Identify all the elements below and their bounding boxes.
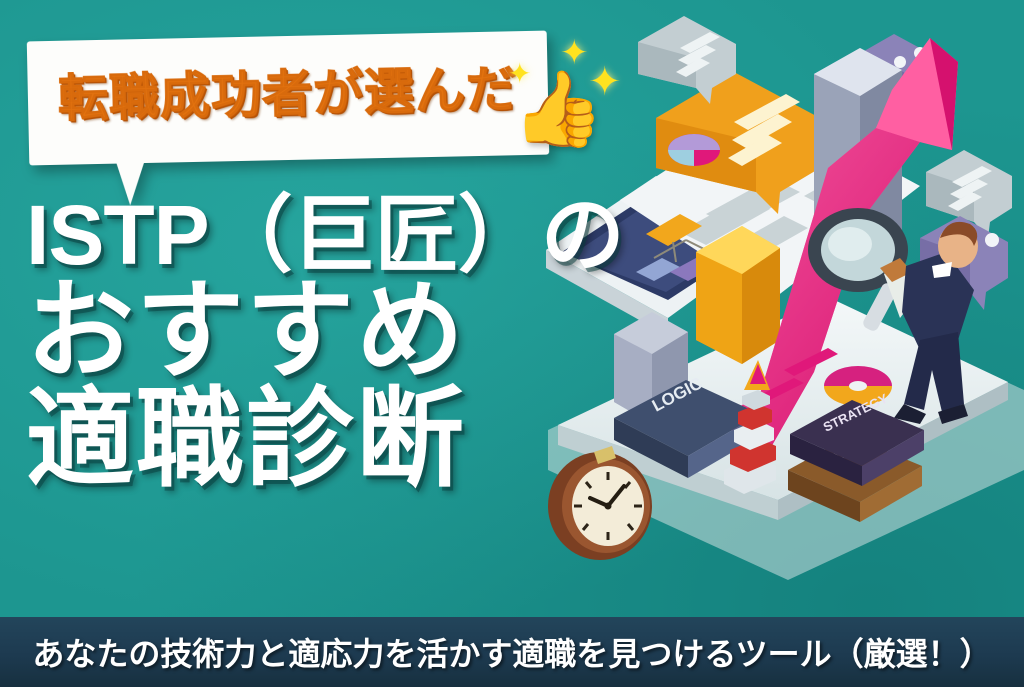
headline-block: ISTP（巨匠）の おすすめ 適職診断 bbox=[26, 196, 586, 491]
callout-bubble-text: 転職成功者が選んだ bbox=[57, 49, 517, 131]
bottom-banner: あなたの技術力と適応力を活かす適職を見つけるツール（厳選！） bbox=[0, 617, 1024, 687]
headline-line-2: おすすめ bbox=[26, 280, 586, 383]
poster-root: LOGIC MARKET STRATEGY bbox=[0, 0, 1024, 687]
headline-line-3: 適職診断 bbox=[26, 388, 586, 491]
headline-line-1-text: ISTP（巨匠）の bbox=[26, 188, 624, 282]
bottom-banner-text: あなたの技術力と適応力を活かす適職を見つけるツール（厳選！） bbox=[32, 629, 991, 675]
sparkle-icon-2: ✦ bbox=[560, 36, 589, 70]
pie-chart-icon bbox=[668, 134, 720, 166]
bar-chart-yellow bbox=[696, 226, 780, 364]
headline-line-1: ISTP（巨匠）の bbox=[26, 196, 586, 276]
thumbs-up-icon: 👍 bbox=[512, 72, 604, 146]
callout-bubble: 転職成功者が選んだ bbox=[27, 31, 549, 166]
